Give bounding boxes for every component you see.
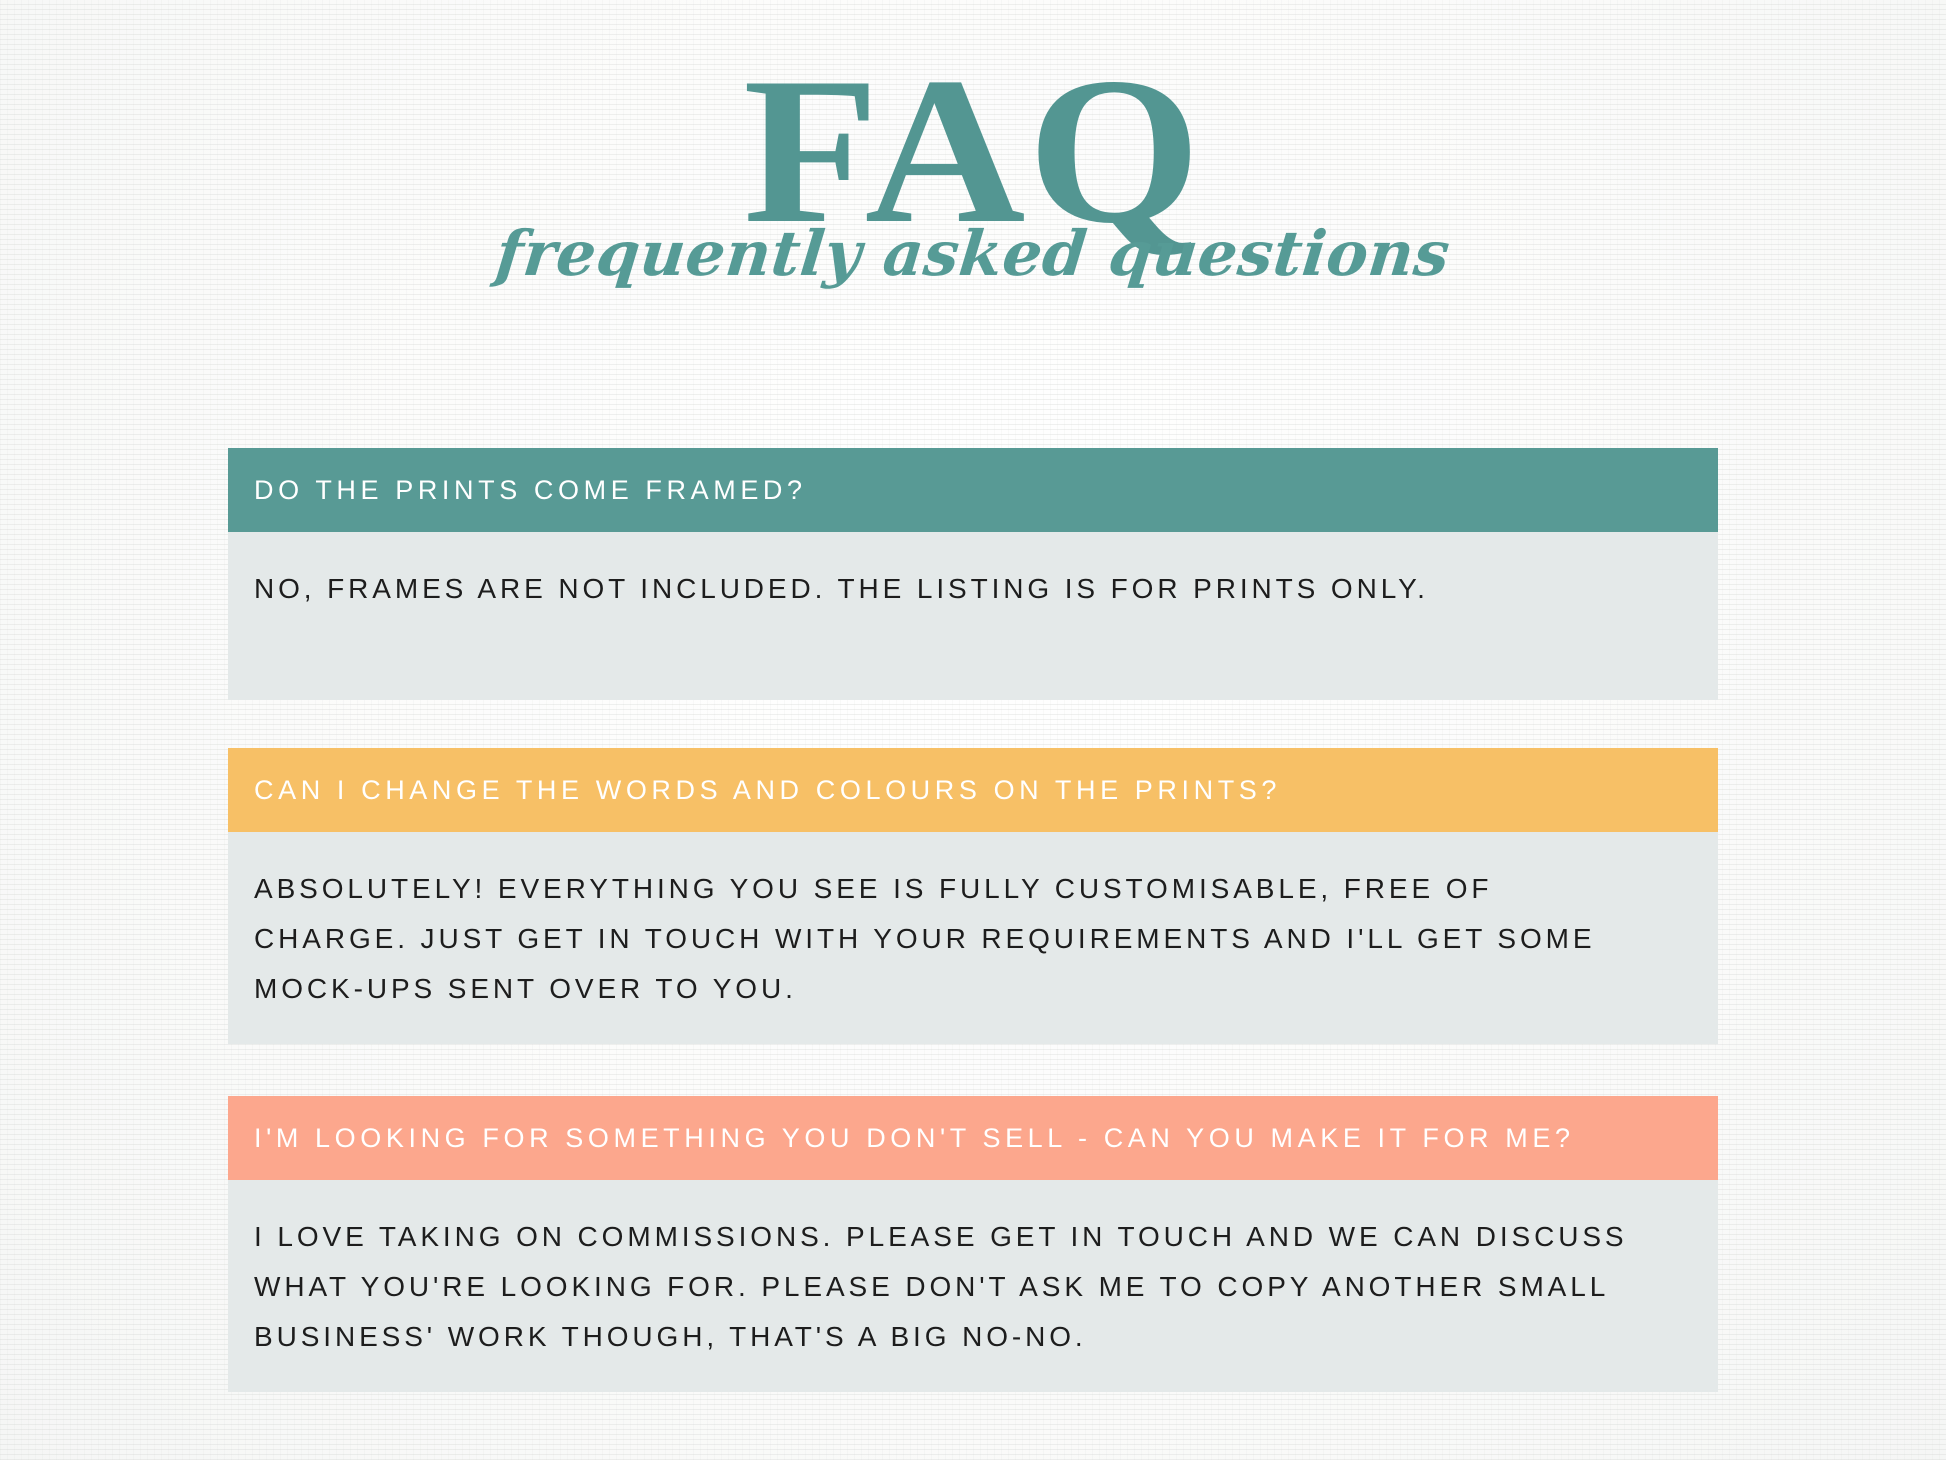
faq-question-text: I'M LOOKING FOR SOMETHING YOU DON'T SELL… [254,1123,1575,1154]
faq-answer-line: NO, FRAMES ARE NOT INCLUDED. THE LISTING… [254,564,1692,614]
faq-answer-panel: NO, FRAMES ARE NOT INCLUDED. THE LISTING… [228,532,1718,700]
faq-question-text: CAN I CHANGE THE WORDS AND COLOURS ON TH… [254,775,1281,806]
faq-question-banner[interactable]: I'M LOOKING FOR SOMETHING YOU DON'T SELL… [228,1096,1718,1180]
faq-list: DO THE PRINTS COME FRAMED?NO, FRAMES ARE… [228,448,1718,1392]
faq-answer-panel: I LOVE TAKING ON COMMISSIONS. PLEASE GET… [228,1180,1718,1392]
faq-answer-panel: ABSOLUTELY! EVERYTHING YOU SEE IS FULLY … [228,832,1718,1044]
faq-item: DO THE PRINTS COME FRAMED?NO, FRAMES ARE… [228,448,1718,700]
faq-page: FAQ frequently asked questions DO THE PR… [0,0,1946,1460]
faq-question-banner[interactable]: DO THE PRINTS COME FRAMED? [228,448,1718,532]
faq-item: I'M LOOKING FOR SOMETHING YOU DON'T SELL… [228,1096,1718,1392]
faq-header: FAQ frequently asked questions [0,0,1946,285]
faq-answer-line: MOCK-UPS SENT OVER TO YOU. [254,964,1692,1014]
faq-item: CAN I CHANGE THE WORDS AND COLOURS ON TH… [228,748,1718,1044]
faq-answer-line: ABSOLUTELY! EVERYTHING YOU SEE IS FULLY … [254,864,1692,914]
faq-question-text: DO THE PRINTS COME FRAMED? [254,475,807,506]
page-subtitle: frequently asked questions [0,223,1946,285]
page-title: FAQ [0,0,1946,249]
faq-question-banner[interactable]: CAN I CHANGE THE WORDS AND COLOURS ON TH… [228,748,1718,832]
faq-answer-line: I LOVE TAKING ON COMMISSIONS. PLEASE GET… [254,1212,1692,1262]
faq-answer-line: CHARGE. JUST GET IN TOUCH WITH YOUR REQU… [254,914,1692,964]
faq-answer-line: WHAT YOU'RE LOOKING FOR. PLEASE DON'T AS… [254,1262,1692,1312]
faq-answer-line: BUSINESS' WORK THOUGH, THAT'S A BIG NO-N… [254,1312,1692,1362]
